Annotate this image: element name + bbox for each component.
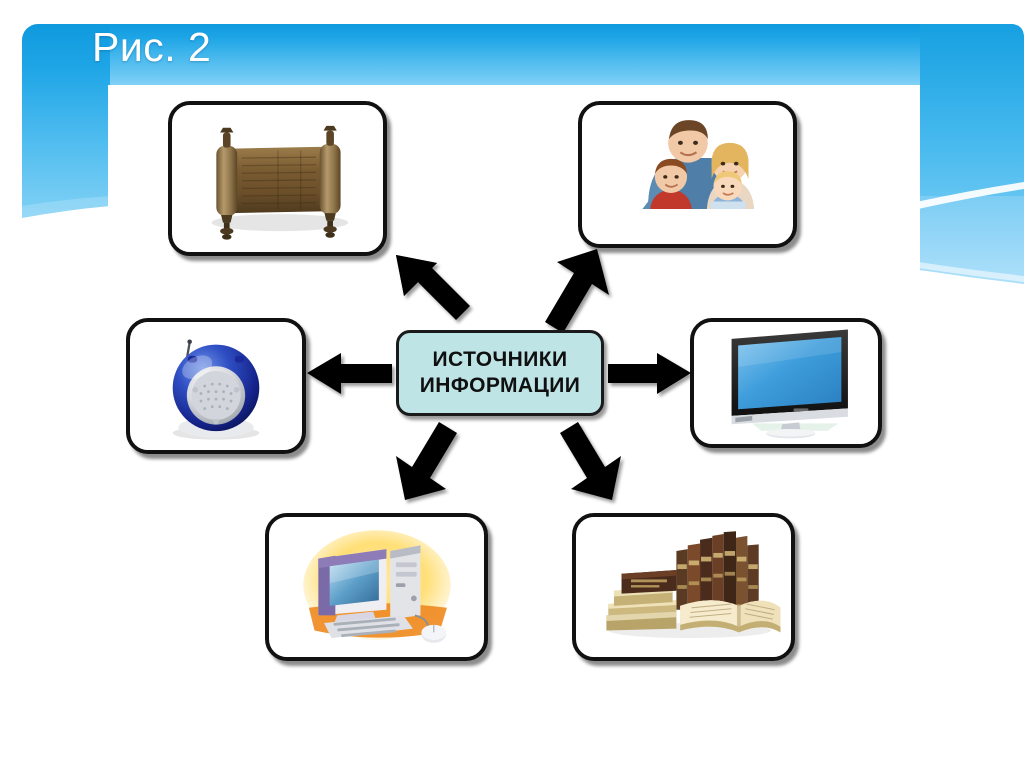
arrow-left-icon: [307, 353, 392, 394]
radio-icon: [130, 322, 302, 450]
books-icon: [576, 517, 791, 657]
family-photo-icon: [582, 105, 793, 244]
arrow-down-right-icon: [560, 422, 621, 500]
node-card-tv[interactable]: Телевизор: [690, 318, 882, 448]
arrow-down-left-icon: [396, 422, 457, 500]
center-node-information-sources[interactable]: ИСТОЧНИКИ ИНФОРМАЦИИ: [396, 330, 604, 416]
node-card-family[interactable]: Семья: [578, 101, 797, 248]
hub-line-2: ИНФОРМАЦИИ: [420, 373, 580, 399]
arrow-up-right-icon: [545, 249, 609, 333]
node-card-scroll[interactable]: Древний свиток: [168, 101, 387, 256]
scroll-icon: [172, 105, 383, 252]
arrow-up-left-icon: [396, 255, 470, 320]
arrow-right-icon: [608, 353, 691, 394]
node-card-computer[interactable]: Компьютер: [265, 513, 488, 661]
node-card-books[interactable]: Книги: [572, 513, 795, 661]
slide: Рис. 2: [0, 0, 1024, 768]
information-sources-diagram: Древний свиток: [0, 0, 1024, 768]
hub-line-1: ИСТОЧНИКИ: [433, 347, 568, 373]
television-icon: [694, 322, 878, 444]
computer-icon: [269, 517, 484, 657]
node-card-radio[interactable]: Радио: [126, 318, 306, 454]
